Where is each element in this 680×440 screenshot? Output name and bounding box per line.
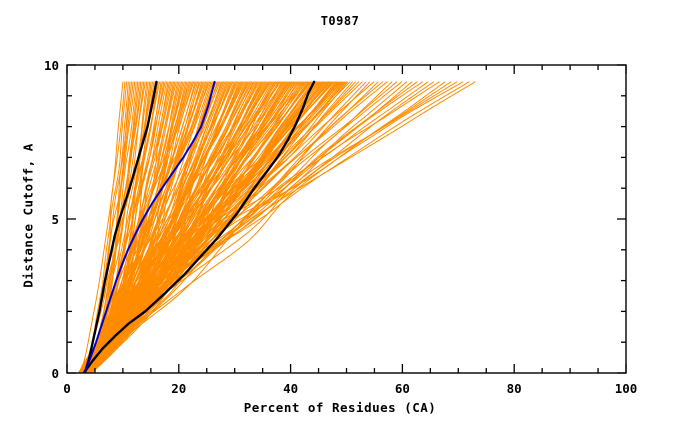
chart-root: T0987 Percent of Residues (CA) Distance …: [0, 0, 680, 440]
x-tick-label: 60: [382, 381, 422, 396]
y-tick-label: 10: [19, 58, 59, 73]
x-axis-label: Percent of Residues (CA): [0, 400, 680, 415]
x-tick-label: 20: [159, 381, 199, 396]
y-tick-label: 5: [19, 212, 59, 227]
x-tick-label: 0: [47, 381, 87, 396]
x-tick-label: 80: [494, 381, 534, 396]
x-tick-label: 100: [606, 381, 646, 396]
y-tick-label: 0: [19, 366, 59, 381]
plot-area: [0, 0, 680, 440]
x-tick-label: 40: [271, 381, 311, 396]
